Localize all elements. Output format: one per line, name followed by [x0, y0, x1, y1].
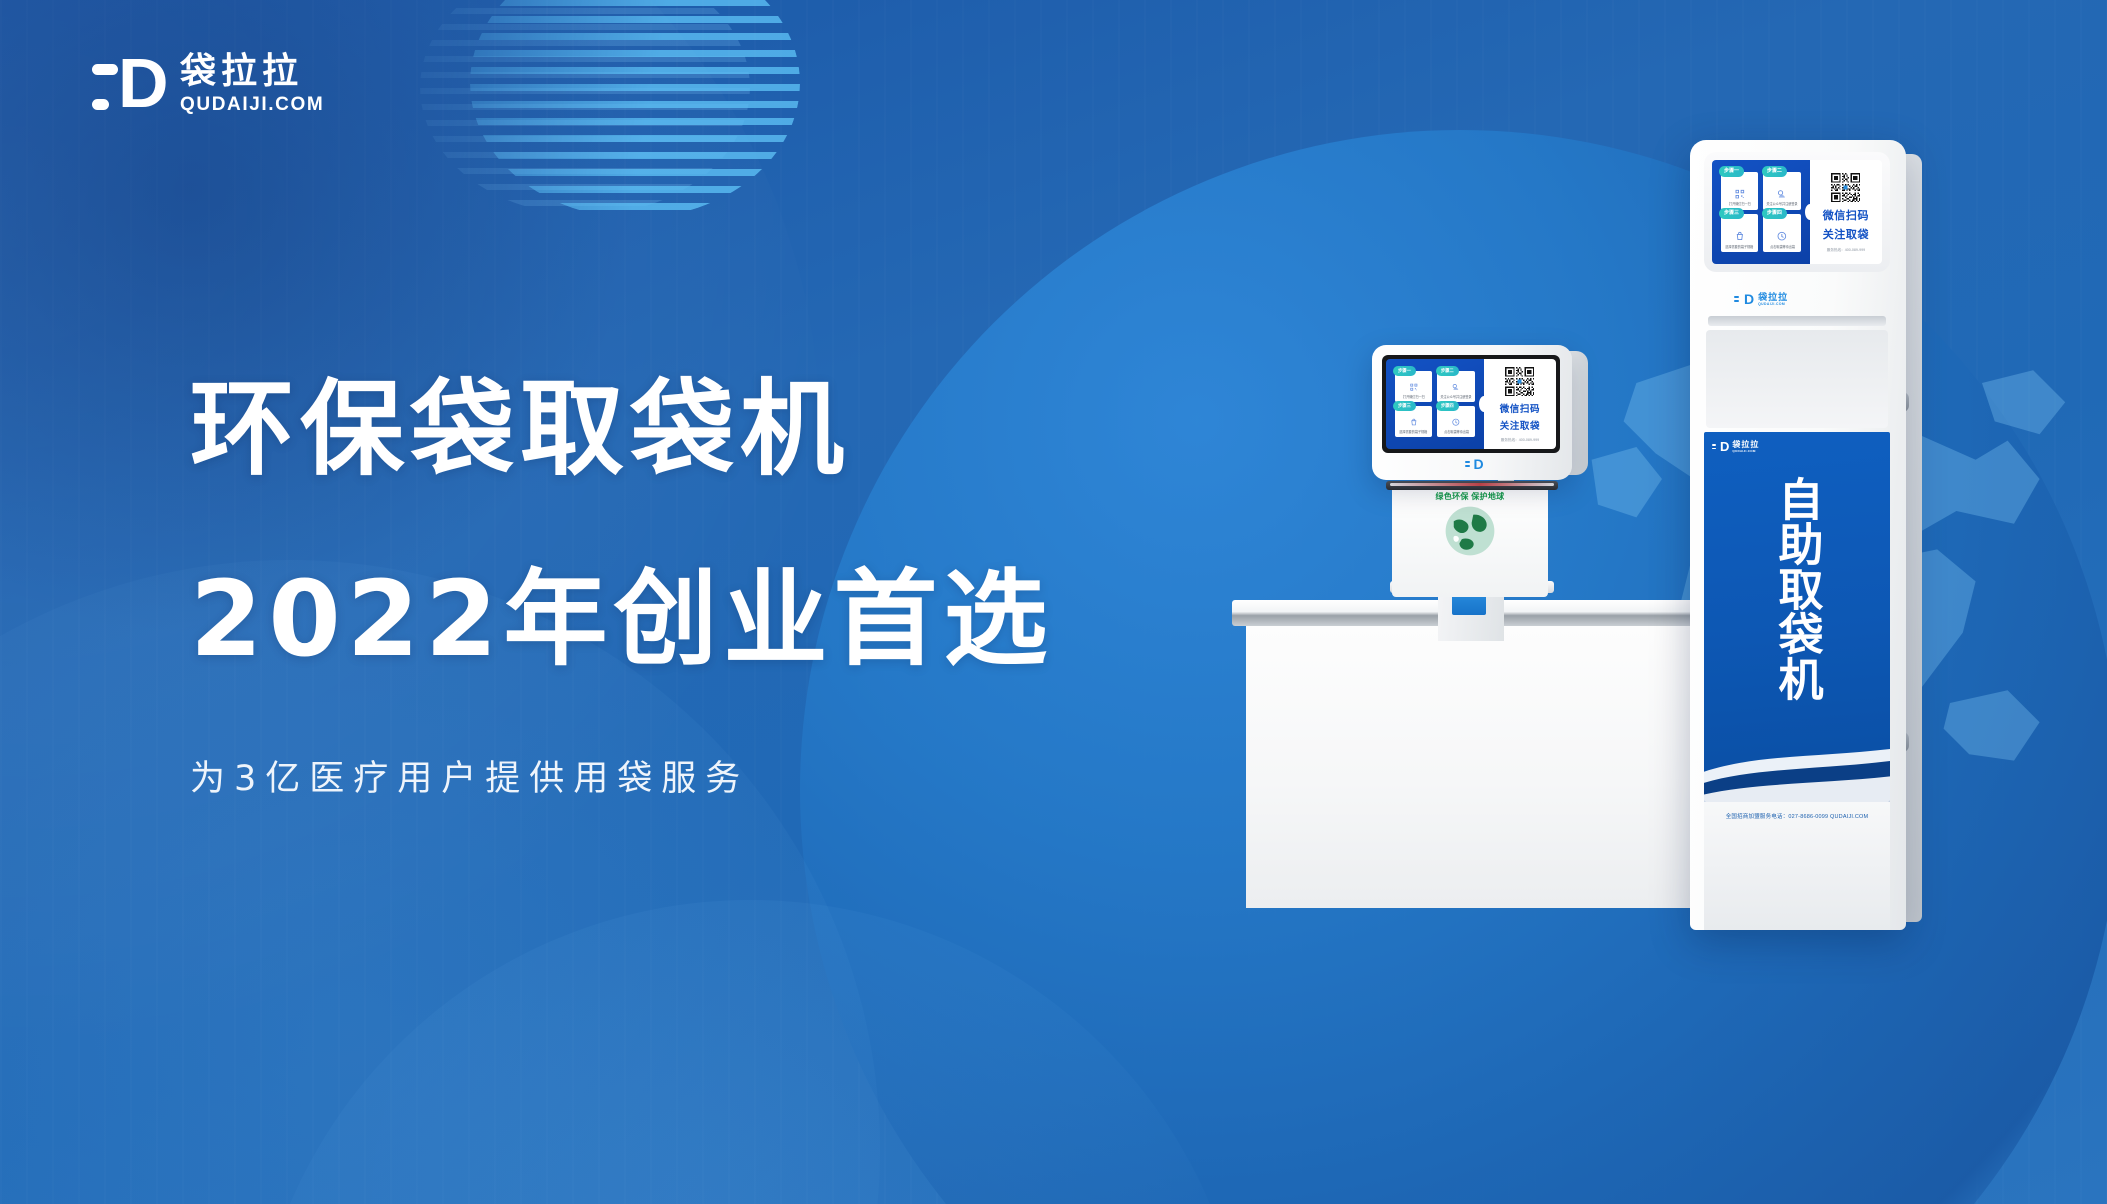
panel-brand-logo: D 袋拉拉 QUDAIJI.COM [1712, 440, 1759, 453]
step-chip: 步骤三 [1393, 401, 1416, 411]
step-caption: 关注公众号并注册登录 [1441, 394, 1472, 399]
hero-subtitle: 为3亿医疗用户提供用袋服务 [190, 750, 1053, 801]
kiosk-panel-title-text: 自助取袋机 [1769, 476, 1826, 701]
step-caption: 打开微信扫一扫 [1729, 201, 1751, 206]
screen-steps-panel: 步骤一 打开微信扫一扫 步骤二 关注公众号并注册登录 步骤三 选择 [1712, 160, 1810, 264]
tap-dispense-icon [1775, 231, 1789, 241]
desk-front-panel [1246, 626, 1738, 908]
screen-step-card[interactable]: 步骤一 打开微信扫一扫 [1721, 172, 1759, 210]
logo-dots-icon [1712, 444, 1716, 449]
step-caption: 点击取袋等待出袋 [1770, 244, 1795, 249]
kiosk-touchscreen[interactable]: 步骤一 打开微信扫一扫 步骤二 关注公众号并注册登录 步骤三 选择 [1712, 160, 1882, 264]
step-caption: 选择需要的袋子规格 [1399, 429, 1427, 434]
screen-step-card[interactable]: 步骤二 关注公众号并注册登录 [1763, 172, 1801, 210]
logo-name-cn: 袋拉拉 [180, 52, 324, 92]
desktop-bag-slot-indicator [1390, 483, 1554, 486]
screen-step-card[interactable]: 步骤四 点击取袋等待出袋 [1763, 214, 1801, 252]
logo-name-en: QUDAIJI.COM [1758, 302, 1788, 306]
wechat-follow-icon [1449, 383, 1463, 391]
step-chip: 步骤一 [1393, 366, 1416, 376]
kiosk-mid-section [1706, 330, 1888, 428]
kiosk-panel-title: 自助取袋机 [1704, 476, 1890, 714]
wechat-follow-icon [1775, 189, 1789, 199]
logo-name-en: QUDAIJI.COM [1732, 449, 1759, 453]
logo-dots-icon [1734, 296, 1739, 302]
headline-line-1: 环保袋取袋机 [190, 360, 1053, 498]
logo-letter: D [1744, 292, 1753, 306]
desktop-unit-logo: D [1444, 457, 1504, 471]
kiosk-footer-text: 全国招商加盟服务电话：027-8686-0099 QUDAIJI.COM [1708, 812, 1886, 820]
logo-letter: D [1473, 457, 1482, 471]
screen-step-card[interactable]: 步骤四 点击取袋等待出袋 [1437, 406, 1475, 437]
floor-standing-kiosk[interactable]: 步骤一 打开微信扫一扫 步骤二 关注公众号并注册登录 步骤三 选择 [1690, 140, 1930, 930]
service-hotline: 服务热线：400-089-999 [1501, 438, 1539, 443]
kiosk-footer-panel [1704, 802, 1890, 930]
screen-qr-panel: 微信扫码 关注取袋 服务热线：400-089-999 [1484, 359, 1556, 449]
logo-name-en: QUDAIJI.COM [180, 94, 324, 116]
logo-name-cn: 袋拉拉 [1758, 292, 1788, 302]
qr-label-line-1: 微信扫码 [1500, 401, 1540, 415]
desktop-screen-bezel: 步骤一 打开微信扫一扫 步骤二 关注公众号并注册登录 步骤三 选择 [1382, 355, 1560, 453]
panel-notch [1479, 396, 1489, 412]
step-caption: 打开微信扫一扫 [1403, 394, 1425, 399]
step-chip: 步骤二 [1436, 366, 1459, 376]
logo-dots-icon [1465, 461, 1470, 467]
logo-letter: D [118, 52, 166, 118]
screen-qr-panel: 微信扫码 关注取袋 服务热线：400-089-999 [1810, 160, 1882, 264]
headline-line-2: 2022年创业首选 [190, 550, 1053, 688]
bag-select-icon [1407, 418, 1421, 426]
tap-dispense-icon [1449, 418, 1463, 426]
service-hotline: 服务热线：400-089-999 [1827, 248, 1865, 253]
step-chip: 步骤四 [1762, 208, 1787, 219]
qr-label-line-2: 关注取袋 [1823, 226, 1869, 242]
screen-step-card[interactable]: 步骤三 选择需要的袋子规格 [1721, 214, 1759, 252]
desktop-touchscreen[interactable]: 步骤一 打开微信扫一扫 步骤二 关注公众号并注册登录 步骤三 选择 [1386, 359, 1556, 449]
step-chip: 步骤二 [1762, 166, 1787, 177]
step-chip: 步骤三 [1719, 208, 1744, 219]
hero-banner: D 袋拉拉 QUDAIJI.COM 环保袋取袋机 2022年创业首选 为3亿医疗… [0, 0, 2107, 1204]
kiosk-brand-logo: D 袋拉拉 QUDAIJI.COM [1734, 288, 1854, 310]
step-chip: 步骤四 [1436, 401, 1459, 411]
step-caption: 选择需要的袋子规格 [1725, 244, 1753, 249]
panel-notch [1805, 204, 1815, 220]
step-caption: 点击取袋等待出袋 [1444, 429, 1469, 434]
logo-letter: D [1720, 440, 1728, 453]
kiosk-body: 步骤一 打开微信扫一扫 步骤二 关注公众号并注册登录 步骤三 选择 [1690, 140, 1906, 930]
qr-code-icon[interactable] [1503, 365, 1536, 398]
earth-globe-icon [1444, 505, 1496, 557]
logo-mark-icon: D [92, 50, 166, 118]
qr-label-line-2: 关注取袋 [1500, 418, 1540, 432]
counter-desk [1232, 600, 1752, 910]
hero-copy: 环保袋取袋机 2022年创业首选 为3亿医疗用户提供用袋服务 [190, 360, 1053, 801]
desktop-unit-shell: 步骤一 打开微信扫一扫 步骤二 关注公众号并注册登录 步骤三 选择 [1372, 345, 1572, 480]
qr-scan-icon [1407, 383, 1421, 391]
panel-wave-decoration [1704, 740, 1890, 802]
qr-code-icon[interactable] [1829, 171, 1862, 204]
qr-label-line-1: 微信扫码 [1823, 207, 1869, 223]
qr-scan-icon [1733, 189, 1747, 199]
screen-steps-panel: 步骤一 打开微信扫一扫 步骤二 关注公众号并注册登录 步骤三 选择 [1386, 359, 1484, 449]
kiosk-graphic-panel: D 袋拉拉 QUDAIJI.COM 自助取袋机 [1704, 432, 1890, 802]
step-caption: 关注公众号并注册登录 [1767, 201, 1798, 206]
bag-select-icon [1733, 231, 1747, 241]
kiosk-screen-bezel: 步骤一 打开微信扫一扫 步骤二 关注公众号并注册登录 步骤三 选择 [1704, 152, 1890, 272]
eco-slogan: 绿色环保 保护地球 [1392, 491, 1548, 502]
step-chip: 步骤一 [1719, 166, 1744, 177]
screen-step-card[interactable]: 步骤三 选择需要的袋子规格 [1395, 406, 1433, 437]
screen-step-card[interactable]: 步骤一 打开微信扫一扫 [1395, 371, 1433, 402]
screen-step-card[interactable]: 步骤二 关注公众号并注册登录 [1437, 371, 1475, 402]
kiosk-bag-slot [1708, 316, 1886, 326]
desktop-dispenser-unit[interactable]: 绿色环保 保护地球 步骤一 打开微信扫一扫 步骤二 关 [1372, 345, 1602, 615]
brand-logo[interactable]: D 袋拉拉 QUDAIJI.COM [92, 50, 324, 118]
logo-name-cn: 袋拉拉 [1732, 440, 1759, 449]
